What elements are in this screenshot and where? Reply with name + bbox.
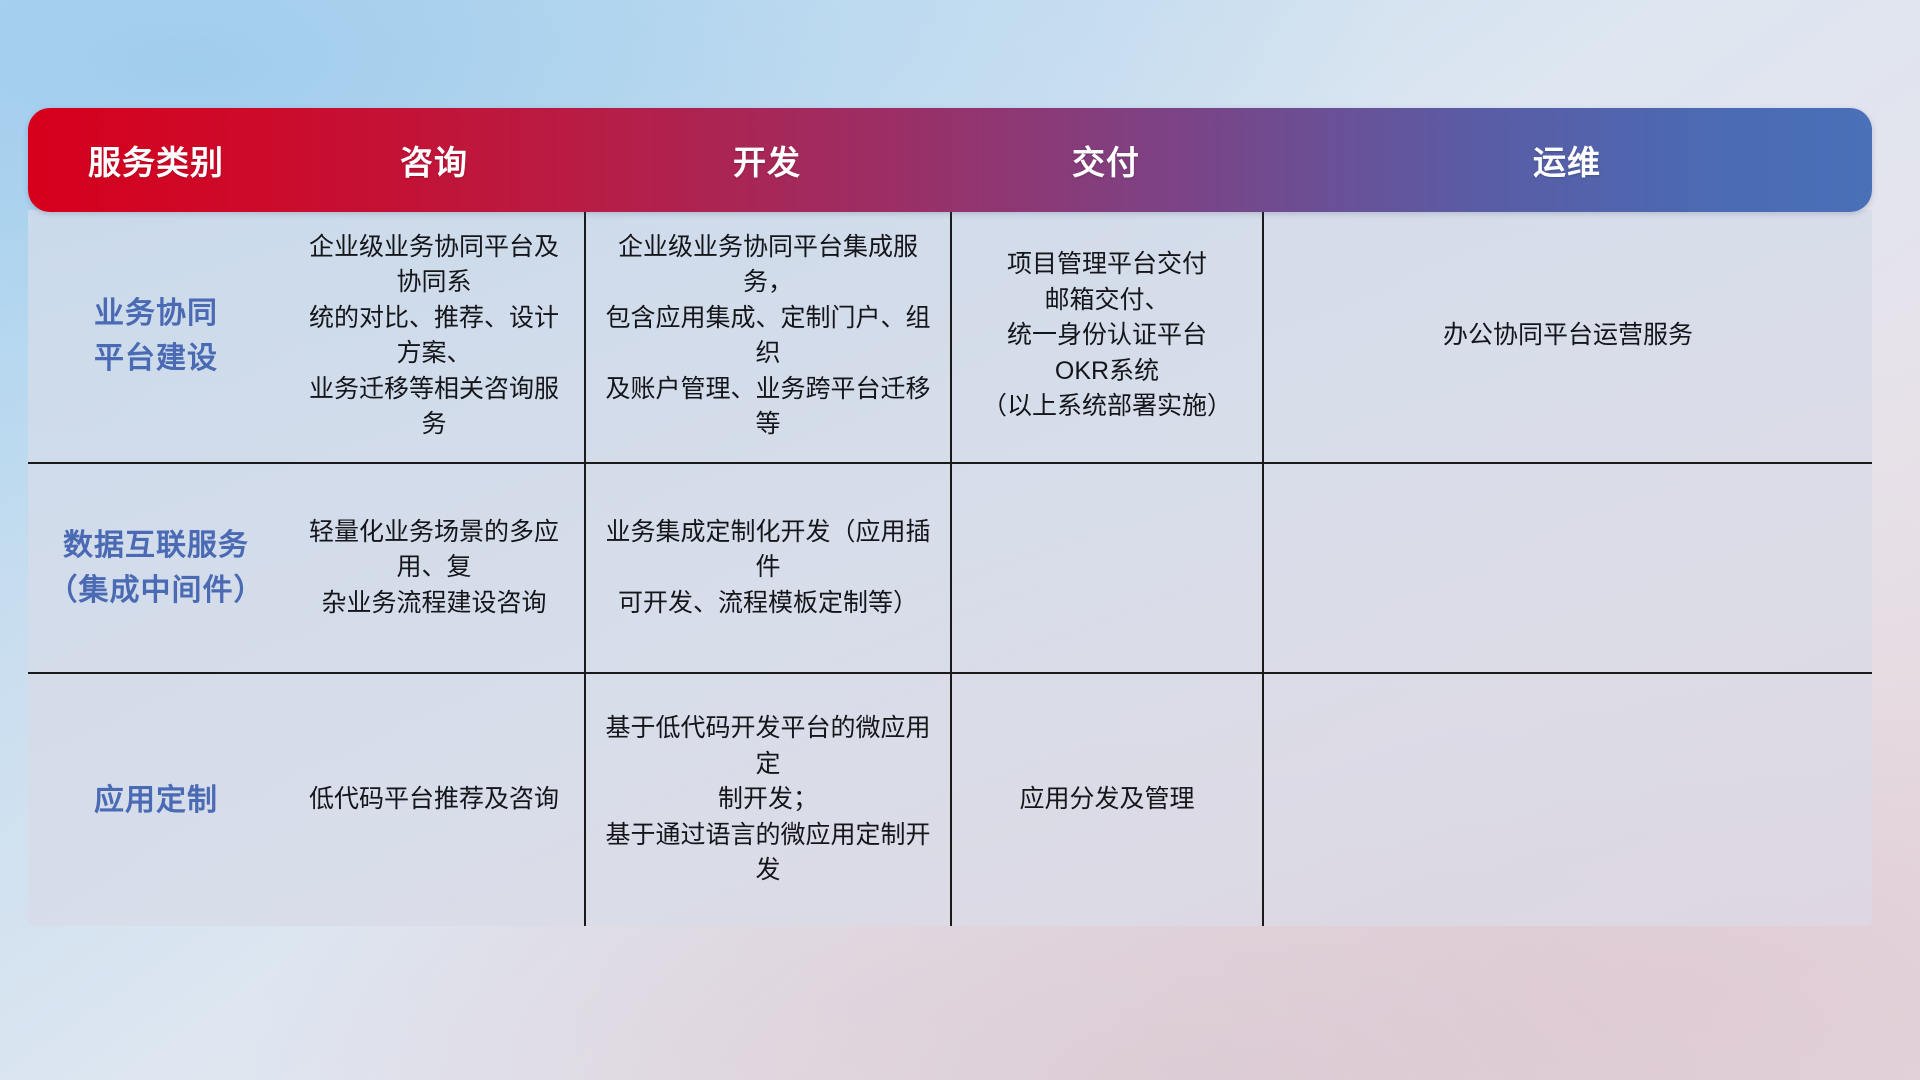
column-header-service-category: 服务类别 [28, 108, 284, 212]
table-body: 业务协同 平台建设 企业级业务协同平台及协同系 统的对比、推荐、设计方案、 业务… [28, 210, 1872, 926]
cell-development: 业务集成定制化开发（应用插件 可开发、流程模板定制等） [584, 464, 950, 672]
cell-consulting: 低代码平台推荐及咨询 [284, 674, 584, 926]
cell-development: 企业级业务协同平台集成服务， 包含应用集成、定制门户、组织 及账户管理、业务跨平… [584, 210, 950, 462]
cell-delivery: 项目管理平台交付 邮箱交付、 统一身份认证平台 OKR系统 （以上系统部署实施） [950, 210, 1262, 462]
cell-operations: 办公协同平台运营服务 [1262, 210, 1872, 462]
column-header-consulting: 咨询 [284, 108, 584, 212]
column-header-operations: 运维 [1262, 108, 1872, 212]
row-category-label: 应用定制 [28, 674, 284, 926]
table-row: 数据互联服务 （集成中间件） 轻量化业务场景的多应用、复 杂业务流程建设咨询 业… [28, 462, 1872, 672]
row-category-label: 业务协同 平台建设 [28, 210, 284, 462]
cell-delivery: 应用分发及管理 [950, 674, 1262, 926]
cell-operations [1262, 464, 1872, 672]
cell-delivery [950, 464, 1262, 672]
cell-operations [1262, 674, 1872, 926]
cell-consulting: 企业级业务协同平台及协同系 统的对比、推荐、设计方案、 业务迁移等相关咨询服务 [284, 210, 584, 462]
table-row: 业务协同 平台建设 企业级业务协同平台及协同系 统的对比、推荐、设计方案、 业务… [28, 210, 1872, 462]
service-matrix-table: 服务类别 咨询 开发 交付 运维 业务协同 平台建设 企业级业务协同平台及协同系… [28, 108, 1872, 926]
column-header-delivery: 交付 [950, 108, 1262, 212]
row-category-label: 数据互联服务 （集成中间件） [28, 464, 284, 672]
table-row: 应用定制 低代码平台推荐及咨询 基于低代码开发平台的微应用定 制开发； 基于通过… [28, 672, 1872, 926]
cell-consulting: 轻量化业务场景的多应用、复 杂业务流程建设咨询 [284, 464, 584, 672]
table-header-row: 服务类别 咨询 开发 交付 运维 [28, 108, 1872, 212]
column-header-development: 开发 [584, 108, 950, 212]
cell-development: 基于低代码开发平台的微应用定 制开发； 基于通过语言的微应用定制开发 [584, 674, 950, 926]
